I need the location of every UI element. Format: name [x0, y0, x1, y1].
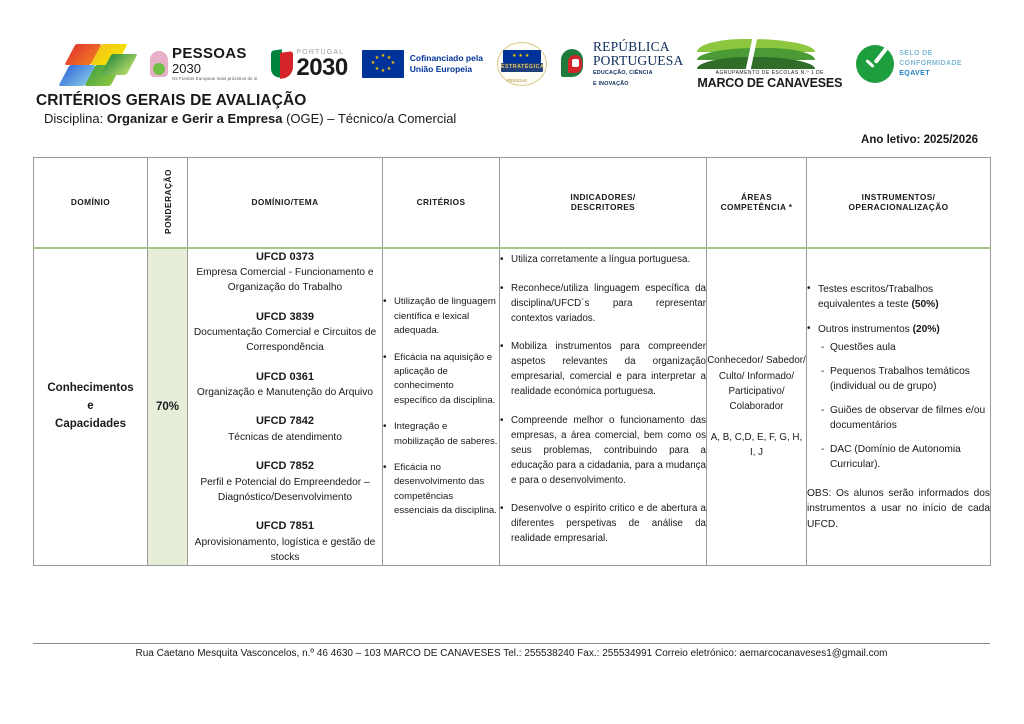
indicador-item: Desenvolve o espírito critico e de abert… — [500, 502, 706, 547]
footer-contact: Rua Caetano Mesquita Vasconcelos, n.º 46… — [33, 643, 990, 659]
criterio-item: Utilização de linguagem científica e lex… — [383, 295, 499, 338]
col-header-ponderacao: PONDERAÇÃO — [148, 158, 188, 248]
pessoas-logo-tagline: Os Fundos Europeus mais próximos de si — [172, 77, 257, 81]
col-header-indicadores-line2: DESCRITORES — [500, 202, 706, 212]
subtitle-suffix: (OGE) – Técnico/a Comercial — [282, 111, 456, 126]
areas-competencia-letters: A, B, C,D, E, F, G, H, I, J — [707, 430, 806, 460]
ufcd-code: UFCD 7852 — [188, 458, 382, 475]
estrategica-seal-icon: ESTRATÉGICA PESSOAS — [497, 42, 547, 86]
ufcd-code: UFCD 0373 — [188, 249, 382, 266]
dominio-line3: Capacidades — [34, 416, 147, 434]
ufcd-code: UFCD 7851 — [188, 518, 382, 535]
eqavet-line3: EQAVET — [899, 69, 962, 79]
ufcd-desc: Organização e Manutenção do Arquivo — [188, 385, 382, 400]
col-header-indicadores: INDICADORES/ DESCRITORES — [500, 158, 707, 248]
instrumento-text: Outros instrumentos — [818, 324, 913, 335]
table-header-row: DOMÍNIO PONDERAÇÃO DOMÍNIO/TEMA CRITÉRIO… — [34, 158, 991, 248]
portugal-2030-logo: PORTUGAL 2030 — [271, 38, 347, 90]
republica-shield-icon — [561, 49, 587, 79]
ufcd-group: UFCD 0361 Organização e Manutenção do Ar… — [188, 369, 382, 401]
indicador-item: Mobiliza instrumentos para compreender a… — [500, 340, 706, 400]
col-header-ponderacao-label: PONDERAÇÃO — [163, 169, 173, 234]
col-header-criterios: CRITÉRIOS — [383, 158, 500, 248]
criterio-item: Eficácia no desenvolvimento das competên… — [383, 461, 499, 519]
indicador-item: Reconhece/utiliza linguagem específica d… — [500, 282, 706, 327]
instrumentos-obs: OBS: Os alunos serão informados dos inst… — [807, 486, 990, 532]
portugal-flag-icon — [271, 50, 293, 78]
col-header-instrumentos-line2: OPERACIONALIZAÇÃO — [807, 202, 990, 212]
areas-competencia-text: Conhecedor/ Sabedor/ Culto/ Informado/ P… — [707, 353, 806, 414]
criterio-item: Eficácia na aquisição e aplicação de con… — [383, 351, 499, 409]
instrumento-subitem: Pequenos Trabalhos temáticos (individual… — [818, 365, 990, 394]
col-header-areas-line2: COMPETÊNCIA * — [707, 202, 806, 212]
agrupamento-line1: AGRUPAMENTO DE ESCOLAS N.º 1 DE — [697, 70, 842, 76]
ano-letivo-label: Ano letivo: 2025/2026 — [861, 134, 978, 146]
subtitle-discipline: Organizar e Gerir a Empresa — [107, 111, 283, 126]
agrupamento-escolas-marco-canaveses-logo: AGRUPAMENTO DE ESCOLAS N.º 1 DE MARCO DE… — [697, 38, 842, 90]
selo-eqavet-logo: SELO DE CONFORMIDADE EQAVET — [856, 38, 962, 90]
cell-indicadores: Utiliza corretamente a língua portuguesa… — [500, 248, 707, 566]
check-circle-icon — [856, 45, 894, 83]
pessoas-2030-cube-logo — [62, 38, 136, 90]
dominio-line1: Conhecimentos — [34, 380, 147, 398]
agrupamento-line2: MARCO DE CANAVESES — [697, 76, 842, 90]
dominio-line2: e — [34, 398, 147, 416]
col-header-areas: ÁREAS COMPETÊNCIA * — [707, 158, 807, 248]
instrumento-subitem: Guiões de observar de filmes e/ou docume… — [818, 404, 990, 433]
estrategica-seal-label: ESTRATÉGICA — [501, 63, 543, 72]
instrumento-item: Testes escritos/Trabalhos equivalentes a… — [807, 282, 990, 313]
cell-dominio: Conhecimentos e Capacidades — [34, 248, 148, 566]
eqavet-line1: SELO DE — [899, 49, 962, 59]
uniao-europeia-logo: ★ ★ ★ ★ ★ ★ ★ ★ Cofinanciado pela União … — [362, 38, 483, 90]
instrumento-subitem: Questões aula — [818, 341, 990, 355]
cell-criterios: Utilização de linguagem científica e lex… — [383, 248, 500, 566]
col-header-dominio-tema: DOMÍNIO/TEMA — [188, 158, 383, 248]
eu-logo-line2: União Europeia — [410, 64, 483, 75]
page-title: CRITÉRIOS GERAIS DE AVALIAÇÃO — [36, 92, 306, 110]
logo-strip: PESSOAS 2030 Os Fundos Europeus mais pró… — [0, 36, 1024, 92]
republica-line1: REPÚBLICA — [593, 40, 683, 54]
col-header-indicadores-line1: INDICADORES/ — [500, 192, 706, 202]
pessoas-mark-icon — [150, 51, 168, 77]
eu-logo-line1: Cofinanciado pela — [410, 53, 483, 64]
ufcd-code: UFCD 7842 — [188, 413, 382, 430]
ufcd-group: UFCD 7851 Aprovisionamento, logística e … — [188, 518, 382, 565]
pessoas-logo-line1: PESSOAS — [172, 46, 257, 61]
ufcd-group: UFCD 7852 Perfil e Potencial do Empreend… — [188, 458, 382, 505]
ufcd-desc: Aprovisionamento, logística e gestão de … — [188, 535, 382, 566]
instrumento-percent: (20%) — [913, 324, 940, 335]
ufcd-desc: Documentação Comercial e Circuitos de Co… — [188, 325, 382, 356]
portugal-2030-line2: 2030 — [296, 56, 347, 80]
cell-ponderacao: 70% — [148, 248, 188, 566]
cell-dominio-tema: UFCD 0373 Empresa Comercial - Funcioname… — [188, 248, 383, 566]
republica-line4: E INOVAÇÃO — [593, 81, 683, 88]
republica-line3: EDUCAÇÃO, CIÊNCIA — [593, 70, 683, 77]
instrumento-percent: (50%) — [911, 299, 938, 310]
col-header-instrumentos-line1: INSTRUMENTOS/ — [807, 192, 990, 202]
instrumento-subitem: DAC (Domínio de Autonomia Curricular). — [818, 443, 990, 472]
hills-icon — [697, 39, 815, 69]
republica-line2: PORTUGUESA — [593, 54, 683, 68]
ufcd-group: UFCD 3839 Documentação Comercial e Circu… — [188, 309, 382, 356]
eqavet-line2: CONFORMIDADE — [899, 59, 962, 69]
indicador-item: Compreende melhor o funcionamento das em… — [500, 414, 706, 488]
pessoas-2030-logo: PESSOAS 2030 Os Fundos Europeus mais pró… — [150, 38, 257, 90]
ufcd-desc: Empresa Comercial - Funcionamento e Orga… — [188, 265, 382, 296]
republica-portuguesa-logo: REPÚBLICA PORTUGUESA EDUCAÇÃO, CIÊNCIA E… — [561, 38, 683, 90]
table-row: Conhecimentos e Capacidades 70% UFCD 037… — [34, 248, 991, 566]
colored-cube-icon — [62, 41, 136, 87]
cell-areas-competencia: Conhecedor/ Sabedor/ Culto/ Informado/ P… — [707, 248, 807, 566]
criterio-item: Integração e mobilização de saberes. — [383, 420, 499, 449]
subtitle-prefix: Disciplina: — [44, 111, 107, 126]
estrategica-seal-logo: ESTRATÉGICA PESSOAS — [497, 38, 547, 90]
document-page: PESSOAS 2030 Os Fundos Europeus mais pró… — [0, 0, 1024, 724]
ufcd-code: UFCD 0361 — [188, 369, 382, 386]
instrumento-item: Outros instrumentos (20%) Questões aula … — [807, 322, 990, 472]
pessoas-logo-line2: 2030 — [172, 62, 257, 75]
col-header-areas-line1: ÁREAS — [707, 192, 806, 202]
eu-flag-icon: ★ ★ ★ ★ ★ ★ ★ ★ — [362, 50, 404, 78]
ufcd-code: UFCD 3839 — [188, 309, 382, 326]
page-subtitle: Disciplina: Organizar e Gerir a Empresa … — [44, 111, 456, 126]
ufcd-group: UFCD 0373 Empresa Comercial - Funcioname… — [188, 249, 382, 296]
col-header-dominio: DOMÍNIO — [34, 158, 148, 248]
ufcd-group: UFCD 7842 Técnicas de atendimento — [188, 413, 382, 445]
indicador-item: Utiliza corretamente a língua portuguesa… — [500, 253, 706, 268]
ufcd-desc: Técnicas de atendimento — [188, 430, 382, 445]
col-header-instrumentos: INSTRUMENTOS/ OPERACIONALIZAÇÃO — [807, 158, 991, 248]
ufcd-desc: Perfil e Potencial do Empreendedor – Dia… — [188, 475, 382, 506]
criterios-table: DOMÍNIO PONDERAÇÃO DOMÍNIO/TEMA CRITÉRIO… — [33, 157, 991, 566]
estrategica-seal-bottom: PESSOAS — [507, 78, 527, 83]
cell-instrumentos: Testes escritos/Trabalhos equivalentes a… — [807, 248, 991, 566]
